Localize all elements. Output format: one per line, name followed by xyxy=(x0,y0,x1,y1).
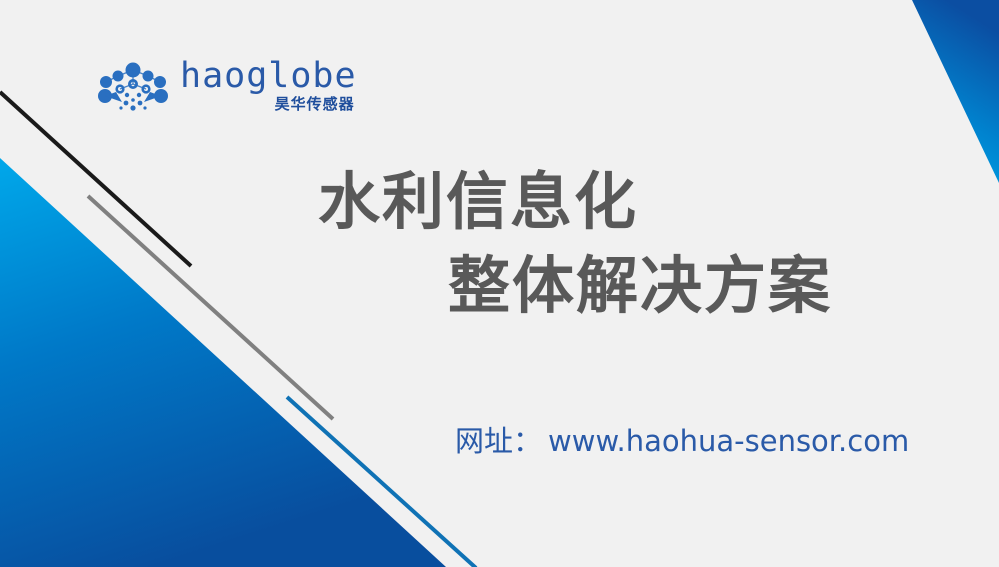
page-title: 水利信息化 整体解决方案 xyxy=(0,160,999,328)
title-line-1: 水利信息化 xyxy=(318,160,999,244)
title-slide: haoglobe 昊华传感器 水利信息化 整体解决方案 网址： www.haoh… xyxy=(0,0,999,567)
logo-wordmark: haoglobe xyxy=(180,58,357,94)
logo-text-group: haoglobe 昊华传感器 xyxy=(180,58,357,113)
logo-subtitle: 昊华传感器 xyxy=(275,96,355,113)
website-url[interactable]: www.haohua-sensor.com xyxy=(548,424,909,458)
title-line-2: 整体解决方案 xyxy=(448,244,999,328)
diagonal-line-blue xyxy=(287,397,476,567)
website-line: 网址： www.haohua-sensor.com xyxy=(455,418,909,460)
haoglobe-molecule-icon xyxy=(96,62,170,116)
company-logo: haoglobe 昊华传感器 xyxy=(96,58,357,116)
website-label: 网址： xyxy=(455,418,542,460)
